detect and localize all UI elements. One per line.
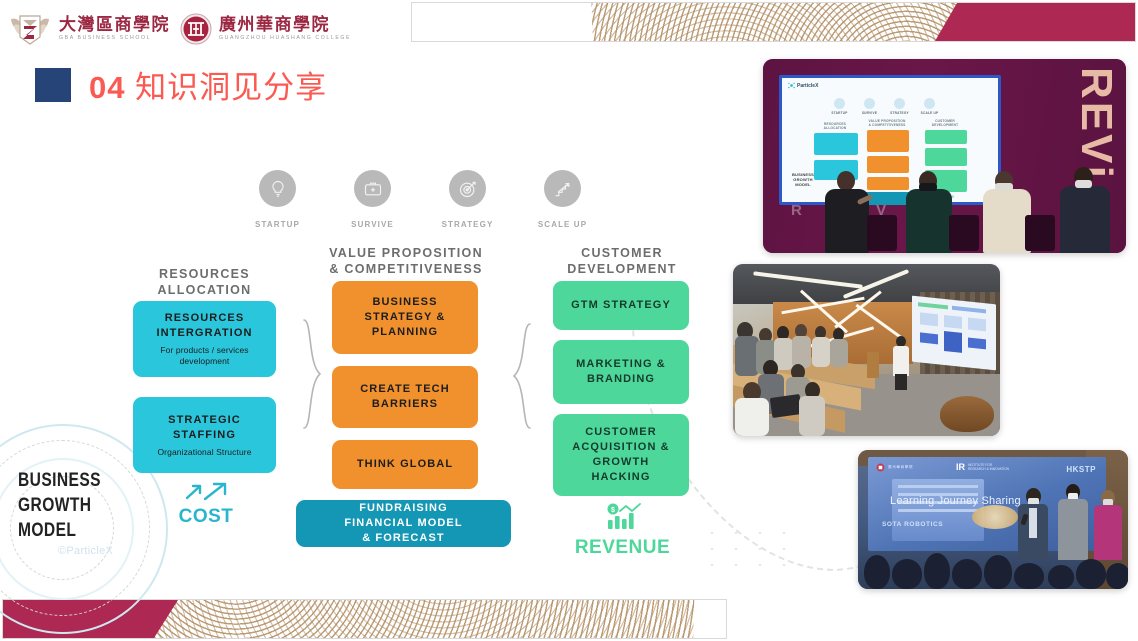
huashang-logo-cn: 廣州華商學院 <box>219 16 351 33</box>
cost-label: COST <box>166 507 246 527</box>
photo2-presenter <box>893 336 909 390</box>
photo3-screen-logo-center: IR INSTITUTE FORRESEARCH & INNOVATION <box>956 462 1009 472</box>
brace-right <box>508 322 534 430</box>
bgm-line-1: BUSINESS <box>18 468 116 493</box>
svg-text:$: $ <box>611 507 615 514</box>
two-up-arrows-icon <box>183 482 229 502</box>
photo3-screen-title: Learning Journey Sharing <box>890 495 1021 507</box>
photo3-speaker-main <box>1018 488 1048 560</box>
photo3-speaker-second <box>1058 484 1088 560</box>
box-title: THINK GLOBAL <box>357 457 453 472</box>
phase-scale-up: SCALE UP <box>515 170 610 229</box>
title-number: 04 <box>89 70 125 105</box>
column-heading-value-proposition: VALUE PROPOSITION & COMPETITIVENESS <box>322 245 490 277</box>
photo1-person-4 <box>1058 167 1114 253</box>
box-gtm-strategy[interactable]: GTM STRATEGY <box>553 281 689 330</box>
learning-journey-sharing-photo: 廣州華商學院 IR INSTITUTE FORRESEARCH & INNOVA… <box>858 450 1128 589</box>
heading-line-2: & COMPETITIVENESS <box>322 261 490 277</box>
box-customer-acquisition-growth-hacking[interactable]: CUSTOMERACQUISITION &GROWTHHACKING <box>553 414 689 496</box>
box-title: CUSTOMERACQUISITION &GROWTHHACKING <box>572 425 669 485</box>
target-dart-icon <box>449 170 486 207</box>
box-title: BUSINESSSTRATEGY &PLANNING <box>365 295 446 340</box>
decorative-dot-grid <box>700 525 796 571</box>
gba-crest-icon <box>8 11 52 47</box>
box-title: GTM STRATEGY <box>571 298 671 313</box>
box-fundraising-financial-model-forecast[interactable]: FUNDRAISINGFINANCIAL MODEL& FORECAST <box>296 500 511 547</box>
photo3-speaker-third <box>1094 490 1122 560</box>
box-create-tech-barriers[interactable]: CREATE TECHBARRIERS <box>332 366 478 428</box>
column-heading-customer-development: CUSTOMER DEVELOPMENT <box>548 245 696 277</box>
revenue-indicator: $ REVENUE <box>565 503 680 558</box>
first-aid-kit-icon <box>354 170 391 207</box>
box-subtitle: Organizational Structure <box>157 447 251 458</box>
photo1-screen-brand: ParticleX <box>788 82 818 89</box>
photo3-hkstp-badge: HKSTP <box>1066 465 1096 474</box>
heading-line-2: ALLOCATION <box>133 282 276 298</box>
heading-line-1: CUSTOMER <box>548 245 696 261</box>
box-business-strategy-planning[interactable]: BUSINESSSTRATEGY &PLANNING <box>332 281 478 354</box>
photo1-brand-text: ParticleX <box>797 83 818 89</box>
huashang-logo-en: GUANGZHOU HUASHANG COLLEGE <box>219 36 351 41</box>
brace-left <box>300 318 326 430</box>
crimson-block-top <box>935 3 1135 41</box>
business-growth-model-watermark: BUSINESS GROWTH MODEL <box>18 468 138 543</box>
box-resources-intergration[interactable]: RESOURCESINTERGRATION For products / ser… <box>133 301 276 377</box>
phase-label-startup: STARTUP <box>255 220 300 229</box>
photo2-projector-screen <box>912 296 996 371</box>
photo1-presentation-screen: ParticleX STARTUP SURVIVE STRATEGY SCALE… <box>779 75 1001 205</box>
phase-startup: STARTUP <box>230 170 325 229</box>
title-label: 知识洞见分享 <box>135 70 327 105</box>
box-subtitle: For products / servicesdevelopment <box>160 345 248 367</box>
particlex-mark-icon <box>788 82 795 89</box>
heading-line-1: RESOURCES <box>133 266 276 282</box>
gba-logo-text: 大灣區商學院 GBA BUSINESS SCHOOL <box>59 16 170 41</box>
gba-business-school-logo: 大灣區商學院 GBA BUSINESS SCHOOL <box>8 11 170 47</box>
photo3-screen-subtitle: SOTA ROBOTICS <box>882 521 943 528</box>
guangzhou-huashang-college-logo: 廣州華商學院 GUANGZHOU HUASHANG COLLEGE <box>180 13 351 45</box>
bgm-line-3: MODEL <box>18 518 116 543</box>
revenue-label: REVENUE <box>565 538 680 558</box>
box-marketing-branding[interactable]: MARKETING &BRANDING <box>553 340 689 404</box>
workshop-audience-photo <box>733 264 1000 436</box>
phase-label-scale-up: SCALE UP <box>538 220 587 229</box>
huashang-logo-text: 廣州華商學院 GUANGZHOU HUASHANG COLLEGE <box>219 16 351 41</box>
bgm-line-2: GROWTH <box>18 493 116 518</box>
panel-discussion-photo: REVi ParticleX STARTUP SURVIVE STRATEGY … <box>763 59 1126 253</box>
phase-label-survive: SURVIVE <box>351 220 394 229</box>
box-think-global[interactable]: THINK GLOBAL <box>332 440 478 489</box>
huashang-seal-icon <box>180 13 212 45</box>
title-accent-square <box>35 68 71 102</box>
phase-label-strategy: STRATEGY <box>442 220 494 229</box>
gold-feather-texture-bottom <box>132 599 695 639</box>
column-heading-resources: RESOURCES ALLOCATION <box>133 266 276 298</box>
box-title: MARKETING &BRANDING <box>576 357 666 387</box>
cost-indicator: COST <box>166 482 246 527</box>
page-title: 04 知识洞见分享 <box>35 62 327 107</box>
box-title: FUNDRAISINGFINANCIAL MODEL& FORECAST <box>344 501 462 546</box>
particlex-credit: ©ParticleX <box>58 545 113 557</box>
heading-line-1: VALUE PROPOSITION <box>322 245 490 261</box>
photo2-laptop <box>770 394 802 418</box>
title-text: 04 知识洞见分享 <box>89 62 327 107</box>
top-decorative-band <box>411 2 1136 42</box>
photo3-screen-logo-left: 廣州華商學院 <box>876 463 913 472</box>
gba-logo-en: GBA BUSINESS SCHOOL <box>59 36 170 41</box>
photo2-podium <box>867 352 879 378</box>
box-title: CREATE TECHBARRIERS <box>360 382 450 412</box>
box-title: STRATEGICSTAFFING <box>168 413 241 443</box>
phase-strategy: STRATEGY <box>420 170 515 229</box>
box-strategic-staffing[interactable]: STRATEGICSTAFFING Organizational Structu… <box>133 397 276 473</box>
heading-line-2: DEVELOPMENT <box>548 261 696 277</box>
box-title: RESOURCESINTERGRATION <box>156 311 252 341</box>
photo2-bean-bag <box>940 396 994 432</box>
gba-logo-cn: 大灣區商學院 <box>59 16 170 33</box>
photo3-ir-badge: IR <box>956 462 965 472</box>
phase-icon-row: STARTUP SURVIVE STRATEGY <box>230 170 610 229</box>
lightbulb-icon <box>259 170 296 207</box>
logo-bar: 大灣區商學院 GBA BUSINESS SCHOOL 廣州華商學院 GUANGZ… <box>8 8 351 50</box>
phase-survive: SURVIVE <box>325 170 420 229</box>
bar-chart-dollar-icon: $ <box>599 503 647 533</box>
growth-stairs-icon <box>544 170 581 207</box>
presentation-slide: 大灣區商學院 GBA BUSINESS SCHOOL 廣州華商學院 GUANGZ… <box>0 0 1138 641</box>
